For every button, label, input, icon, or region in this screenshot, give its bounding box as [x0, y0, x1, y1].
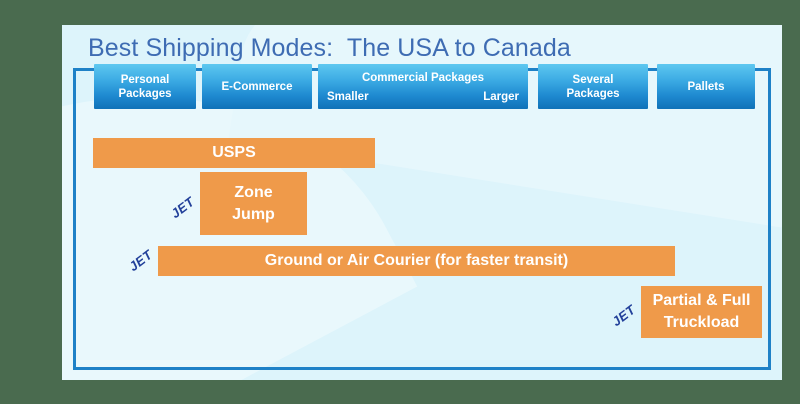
mode-label-line1: Partial & Full	[653, 290, 751, 312]
category-label-line2: Packages	[542, 87, 644, 101]
mode-label-line2: Truckload	[664, 312, 740, 334]
category-label-line1: Commercial Packages	[327, 71, 519, 85]
mode-label-line2: Jump	[232, 204, 275, 226]
category-box-e-commerce[interactable]: E-Commerce	[202, 64, 312, 109]
category-label-line1: Personal	[98, 73, 192, 87]
category-box-personal-packages[interactable]: Personal Packages	[94, 64, 196, 109]
category-endpoint-larger: Larger	[483, 90, 519, 104]
mode-bar-ground-or-air-courier[interactable]: Ground or Air Courier (for faster transi…	[158, 246, 675, 276]
category-endpoint-smaller: Smaller	[327, 90, 369, 104]
page-title: Best Shipping Modes: The USA to Canada	[88, 28, 748, 68]
mode-bar-usps[interactable]: USPS	[93, 138, 375, 168]
category-label-line1: Pallets	[661, 80, 751, 94]
category-label-line2: Packages	[98, 87, 192, 101]
mode-label-line1: USPS	[212, 142, 256, 164]
mode-label-line1: Zone	[234, 182, 272, 204]
slide-canvas: Best Shipping Modes: The USA to Canada P…	[62, 25, 782, 380]
category-box-pallets[interactable]: Pallets	[657, 64, 755, 109]
mode-bar-partial-and-full-truckload[interactable]: Partial & Full Truckload	[641, 286, 762, 338]
mode-bar-zone-jump[interactable]: Zone Jump	[200, 172, 307, 235]
mode-label-line1: Ground or Air Courier (for faster transi…	[265, 250, 568, 272]
category-box-commercial-packages[interactable]: Commercial Packages Smaller Larger	[318, 64, 528, 109]
category-label-line1: E-Commerce	[206, 80, 308, 94]
category-label-line1: Several	[542, 73, 644, 87]
slide-sheet: Best Shipping Modes: The USA to Canada P…	[62, 25, 782, 380]
category-box-several-packages[interactable]: Several Packages	[538, 64, 648, 109]
